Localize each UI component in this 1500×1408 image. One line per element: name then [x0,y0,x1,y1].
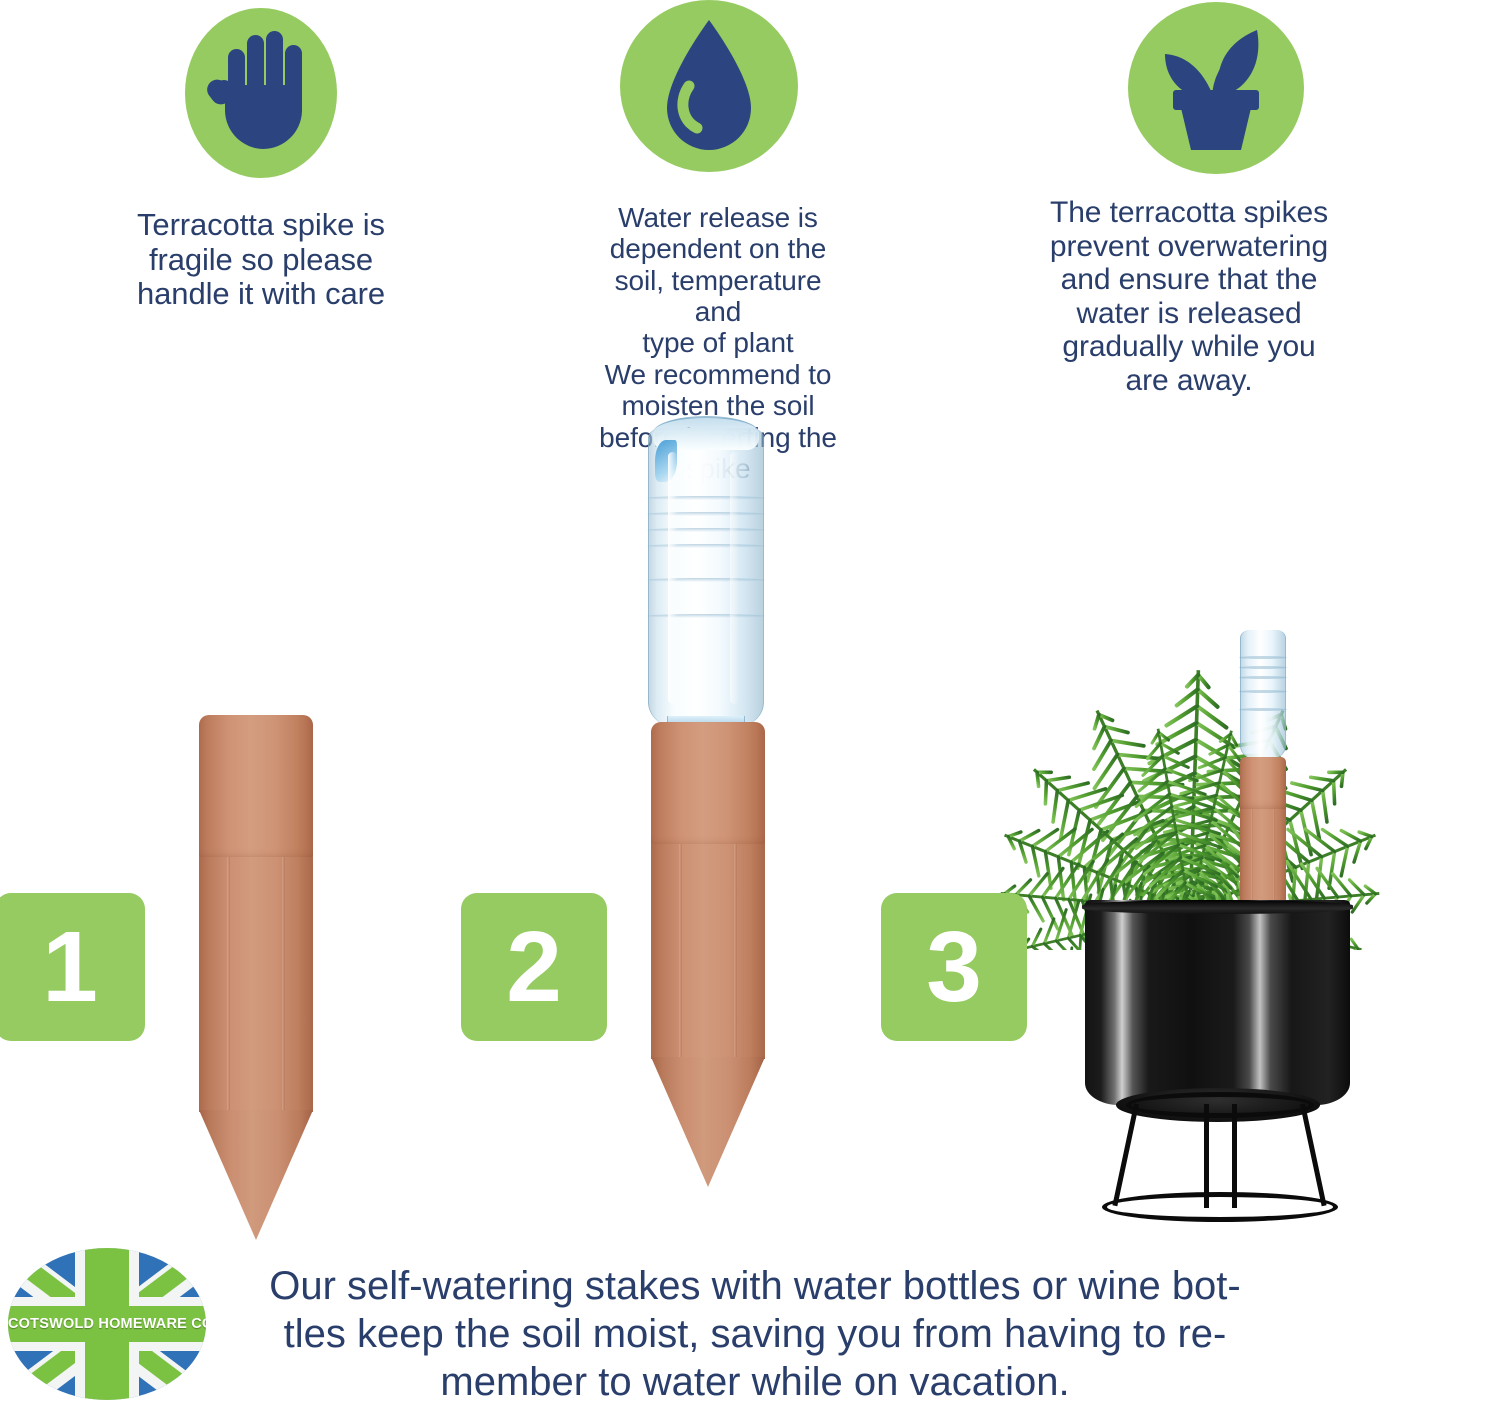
bottle-rib [647,578,765,582]
spike-body [651,844,765,1059]
mini-bottle-rib [1239,690,1287,693]
bottom-caption-line-2: tles keep the soil moist, saving you fro… [255,1310,1255,1358]
stand-top-ring [1126,1092,1314,1118]
palm-plant-illustration [890,390,1490,950]
bottle-rib [647,614,765,618]
water-drop-icon-circle [620,0,798,172]
cotswold-homeware-co-logo: COTSWOLD HOMEWARE CO. [8,1248,206,1400]
hand-icon [205,29,317,157]
spike-ridge [282,857,285,1112]
step-badge-1-label: 1 [42,917,98,1017]
bottle-rib [647,496,765,500]
column-3-caption: The terracotta spikes prevent overwateri… [1030,196,1348,398]
black-plant-pot [1085,900,1350,1105]
bottle-rib [647,544,765,548]
column-3-caption-line-2: prevent overwatering [1030,230,1348,264]
bottom-caption-line-3: member to water while on vacation. [255,1358,1255,1406]
column-2-caption-line-2: dependent on the [592,233,844,264]
spike-body [199,857,313,1112]
column-2-caption-line-4: type of plant [592,327,844,358]
bottle-rib [647,528,765,532]
palm-fronds [890,390,1490,950]
mini-bottle-shell [1240,630,1286,760]
column-1-caption: Terracotta spike is fragile so please ha… [95,208,427,312]
mini-bottle-rib [1239,676,1287,679]
bottom-caption-line-1: Our self-watering stakes with water bott… [255,1262,1255,1310]
column-1-caption-line-2: fragile so please [95,243,427,278]
pot-rim [1082,900,1352,914]
mini-bottle-rib [1239,708,1287,711]
wire-plant-stand [1100,1100,1340,1210]
stand-bottom-ring [1102,1192,1338,1222]
spike-collar [199,715,313,860]
step-badge-2-label: 2 [506,917,562,1017]
step-badge-3-label: 3 [926,917,982,1017]
column-1-caption-line-1: Terracotta spike is [95,208,427,243]
stand-leg [1112,1103,1139,1206]
terracotta-spike-illustration-2 [651,722,765,1187]
water-bottle-illustration [648,428,764,728]
spike-ridge [679,844,682,1059]
spike-tip [651,1057,765,1187]
column-3-caption-line-3: and ensure that the [1030,263,1348,297]
spike-ridge [227,857,230,1112]
stand-leg [1300,1103,1327,1206]
mini-bottle-rib [1239,666,1287,669]
bottom-caption: Our self-watering stakes with water bott… [255,1262,1255,1406]
spike-collar [1240,757,1286,811]
mini-bottle-rib [1239,656,1287,659]
step-badge-1: 1 [0,893,145,1041]
step-badge-3: 3 [881,893,1027,1041]
column-2-caption-line-5: We recommend to [592,359,844,390]
bottle-highlight [668,452,677,704]
step-badge-2: 2 [461,893,607,1041]
column-2-caption-line-3: soil, temperature and [592,265,844,328]
water-drop-icon [655,16,763,156]
column-2-caption-line-1: Water release is [592,202,844,233]
potted-plant-icon [1153,22,1279,154]
bottle-highlight [730,452,739,704]
hand-icon-circle [185,8,337,178]
column-1-caption-line-3: handle it with care [95,277,427,312]
bottle-rib [647,512,765,516]
spike-collar [651,722,765,847]
column-3-caption-line-5: gradually while you [1030,330,1348,364]
column-3-caption-line-4: water is released [1030,297,1348,331]
infographic-canvas: Terracotta spike is fragile so please ha… [0,0,1500,1408]
potted-plant-icon-circle [1128,2,1304,174]
spike-tip [199,1110,313,1240]
terracotta-spike-illustration-1 [199,715,313,1240]
spike-ridge [734,844,737,1059]
logo-brand-text: COTSWOLD HOMEWARE CO. [8,1316,206,1332]
mini-water-bottle [1240,630,1286,760]
column-3-caption-line-1: The terracotta spikes [1030,196,1348,230]
